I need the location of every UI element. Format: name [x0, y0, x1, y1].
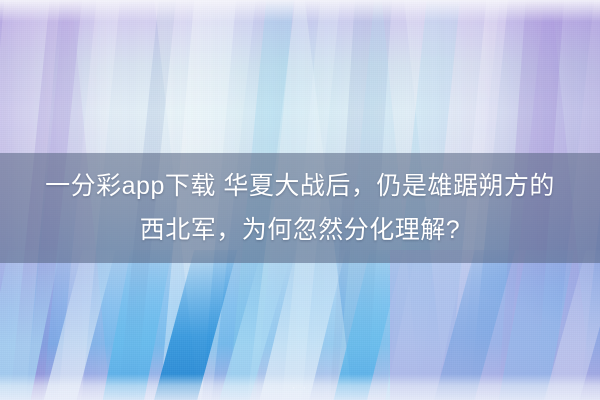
watermark-text: · · — [292, 382, 308, 394]
caption-band: 一分彩app下载 华夏大战后，仍是雄踞朔方的 西北军，为何忽然分化理解? — [0, 153, 600, 263]
caption-line-2: 西北军，为何忽然分化理解? — [140, 208, 460, 252]
banner-image: 一分彩app下载 华夏大战后，仍是雄踞朔方的 西北军，为何忽然分化理解? · · — [0, 0, 600, 400]
caption-line-1: 一分彩app下载 华夏大战后，仍是雄踞朔方的 — [45, 164, 555, 208]
